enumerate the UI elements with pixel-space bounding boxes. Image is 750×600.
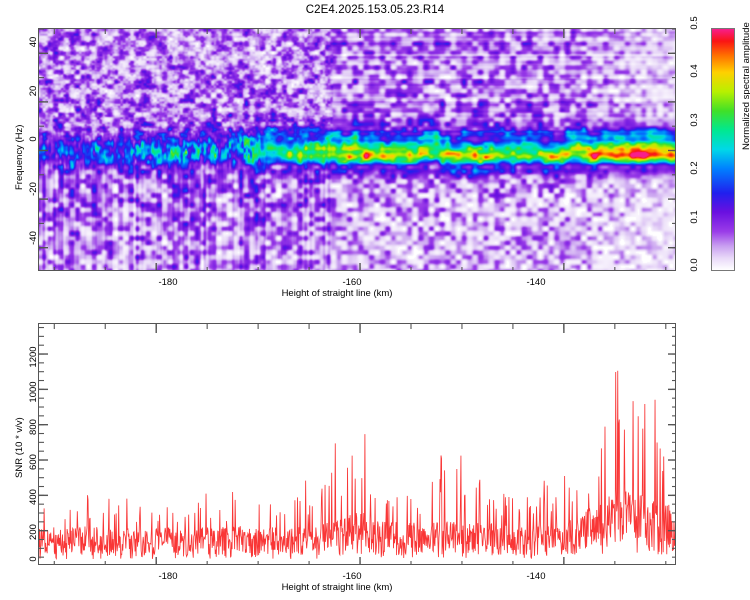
- snr-trace: [39, 324, 676, 565]
- snr-ytick-6: 1200: [28, 338, 39, 376]
- spectrogram-yaxis-label: Frequency (Hz): [14, 125, 25, 190]
- colorbar-tick-1: 0.1: [689, 197, 700, 237]
- spectrogram-plot: [38, 28, 676, 271]
- spectrogram-xtick-2: -140: [506, 277, 566, 288]
- snr-xtick-2: -140: [506, 571, 566, 582]
- spectrogram-tick-marks: [39, 29, 676, 271]
- snr-plot: [38, 323, 676, 565]
- snr-yaxis-label: SNR (10 * v/v): [14, 417, 25, 478]
- colorbar-title: Normalized spectral amplitude: [741, 22, 750, 150]
- spectrogram-ytick-0: 40: [28, 32, 39, 52]
- colorbar-gradient: [711, 28, 735, 271]
- colorbar-tick-3: 0.3: [689, 100, 700, 140]
- snr-xtick-0: -180: [138, 571, 198, 582]
- snr-ytick-0: 0: [28, 552, 39, 566]
- spectrogram-ytick-2: 0: [28, 132, 39, 146]
- spectrogram-xaxis-label: Height of straight line (km): [187, 288, 487, 299]
- colorbar-tick-5: 0.5: [689, 3, 700, 43]
- snr-xtick-1: -160: [322, 571, 382, 582]
- spectrogram-ytick-3: -20: [28, 175, 39, 203]
- snr-ytick-4: 800: [28, 411, 39, 443]
- colorbar: [711, 28, 735, 271]
- snr-yaxis-label-text: SNR (10 * v/v): [14, 417, 25, 478]
- colorbar-tick-4: 0.4: [689, 51, 700, 91]
- snr-line: [39, 371, 676, 559]
- spectrogram-ytick-1: 20: [28, 81, 39, 101]
- figure-title: C2E4.2025.153.05.23.R14: [0, 4, 750, 16]
- spectrogram-xtick-1: -160: [322, 277, 382, 288]
- spectrogram-ytick-4: -40: [28, 224, 39, 252]
- spectrogram-xtick-0: -180: [138, 277, 198, 288]
- snr-ytick-2: 400: [28, 481, 39, 513]
- snr-ytick-5: 1000: [28, 373, 39, 411]
- snr-xaxis-label: Height of straight line (km): [187, 582, 487, 593]
- colorbar-tick-0: 0.0: [689, 245, 700, 285]
- colorbar-tick-2: 0.2: [689, 148, 700, 188]
- snr-ytick-1: 200: [28, 516, 39, 548]
- figure-canvas: C2E4.2025.153.05.23.R14 -180 -160 -140 H…: [0, 0, 750, 600]
- snr-ytick-3: 600: [28, 446, 39, 478]
